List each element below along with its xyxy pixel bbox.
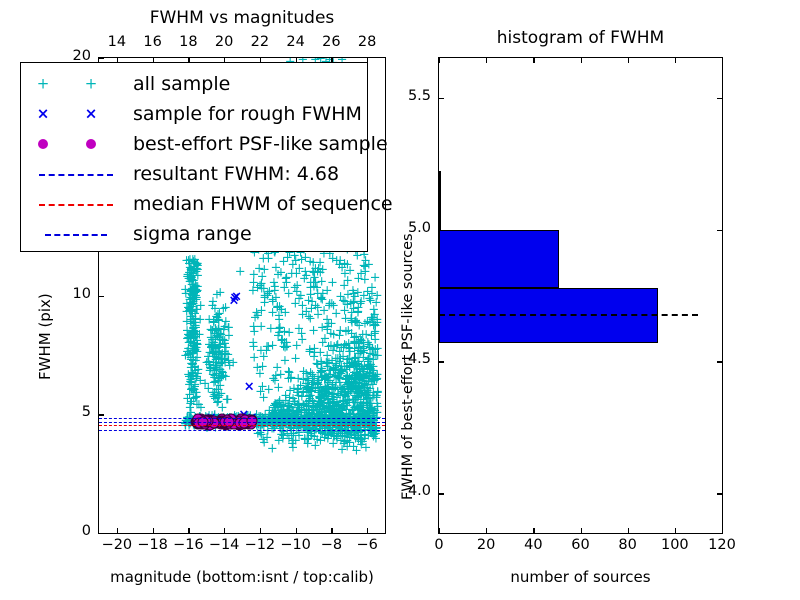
all-sample-point: + [329, 414, 340, 425]
all-sample-point: + [355, 298, 366, 309]
x-ticklabel-top: 24 [278, 34, 314, 50]
all-sample-point: + [213, 324, 224, 335]
all-sample-point: + [213, 309, 224, 320]
all-sample-point: + [280, 391, 291, 402]
all-sample-point: + [343, 339, 354, 350]
all-sample-point: + [287, 411, 298, 422]
all-sample-point: + [334, 400, 345, 411]
all-sample-point: + [349, 332, 360, 343]
all-sample-point: + [283, 367, 294, 378]
all-sample-point: + [215, 288, 226, 299]
all-sample-point: + [302, 427, 313, 438]
all-sample-point: + [340, 414, 351, 425]
all-sample-point: + [349, 431, 360, 442]
all-sample-point: + [324, 365, 335, 376]
all-sample-point: + [353, 371, 364, 382]
all-sample-point: + [311, 404, 322, 415]
all-sample-point: + [303, 414, 314, 425]
all-sample-point: + [358, 348, 369, 359]
all-sample-point: + [342, 381, 353, 392]
all-sample-point: + [334, 346, 345, 357]
all-sample-point: + [309, 347, 320, 358]
all-sample-point: + [272, 301, 283, 312]
all-sample-point: + [318, 390, 329, 401]
all-sample-point: + [321, 410, 332, 421]
all-sample-point: + [368, 371, 379, 382]
all-sample-point: + [344, 360, 355, 371]
all-sample-point: + [342, 396, 353, 407]
all-sample-point: + [268, 414, 279, 425]
all-sample-point: + [319, 388, 330, 399]
all-sample-point: + [330, 411, 341, 422]
all-sample-point: + [190, 280, 201, 291]
all-sample-point: + [337, 426, 348, 437]
all-sample-point: + [351, 368, 362, 379]
all-sample-point: + [327, 402, 338, 413]
all-sample-point: + [277, 414, 288, 425]
all-sample-point: + [267, 295, 278, 306]
all-sample-point: + [303, 414, 314, 425]
all-sample-point: + [328, 405, 339, 416]
all-sample-point: + [349, 427, 360, 438]
all-sample-point: + [305, 283, 316, 294]
all-sample-point: + [318, 414, 329, 425]
all-sample-point: + [289, 410, 300, 421]
all-sample-point: + [355, 433, 366, 444]
all-sample-point: + [213, 397, 224, 408]
all-sample-point: + [299, 422, 310, 433]
all-sample-point: + [215, 339, 226, 350]
all-sample-point: + [347, 394, 358, 405]
all-sample-point: + [337, 401, 348, 412]
all-sample-point: + [339, 390, 350, 401]
all-sample-point: + [187, 348, 198, 359]
all-sample-point: + [335, 365, 346, 376]
sigma-lower-line [99, 430, 385, 431]
all-sample-point: + [281, 338, 292, 349]
all-sample-point: + [309, 273, 320, 284]
all-sample-point: + [364, 398, 375, 409]
all-sample-point: + [181, 299, 192, 310]
all-sample-point: + [362, 392, 373, 403]
all-sample-point: + [326, 405, 337, 416]
all-sample-point: + [334, 403, 345, 414]
all-sample-point: + [262, 290, 273, 301]
all-sample-point: + [207, 341, 218, 352]
histogram-x-tick-top [533, 58, 534, 63]
all-sample-point: + [187, 328, 198, 339]
all-sample-point: + [364, 318, 375, 329]
all-sample-point: + [258, 434, 269, 445]
all-sample-point: + [248, 321, 259, 332]
all-sample-point: + [299, 414, 310, 425]
all-sample-point: + [357, 415, 368, 426]
all-sample-point: + [188, 337, 199, 348]
all-sample-point: + [349, 361, 360, 372]
x-ticklabel-bottom: −14 [206, 537, 242, 553]
all-sample-point: + [192, 330, 203, 341]
all-sample-point: + [316, 395, 327, 406]
all-sample-point: + [204, 348, 215, 359]
all-sample-point: + [325, 328, 336, 339]
all-sample-point: + [318, 414, 329, 425]
all-sample-point: + [357, 418, 368, 429]
all-sample-point: + [209, 329, 220, 340]
all-sample-point: + [369, 391, 380, 402]
all-sample-point: + [300, 267, 311, 278]
all-sample-point: + [346, 315, 357, 326]
all-sample-point: + [188, 339, 199, 350]
all-sample-point: + [351, 418, 362, 429]
all-sample-point: + [370, 427, 381, 438]
all-sample-point: + [312, 359, 323, 370]
all-sample-point: + [185, 305, 196, 316]
all-sample-point: + [191, 292, 202, 303]
all-sample-point: + [320, 384, 331, 395]
x-ticklabel-bottom: −10 [278, 537, 314, 553]
all-sample-point: + [358, 403, 369, 414]
all-sample-point: + [268, 418, 279, 429]
all-sample-point: + [303, 375, 314, 386]
all-sample-point: + [183, 349, 194, 360]
all-sample-point: + [273, 411, 284, 422]
all-sample-point: + [322, 372, 333, 383]
all-sample-point: + [218, 325, 229, 336]
all-sample-point: + [334, 407, 345, 418]
all-sample-point: + [213, 350, 224, 361]
all-sample-point: + [316, 292, 327, 303]
all-sample-point: + [256, 278, 267, 289]
all-sample-point: + [342, 426, 353, 437]
all-sample-point: + [219, 322, 230, 333]
all-sample-point: + [181, 317, 192, 328]
all-sample-point: + [223, 330, 234, 341]
all-sample-point: + [312, 401, 323, 412]
all-sample-point: + [270, 293, 281, 304]
histogram-x-tick-top [486, 58, 487, 63]
all-sample-point: + [209, 389, 220, 400]
all-sample-point: + [353, 383, 364, 394]
histogram-y-tick-right [717, 98, 722, 99]
all-sample-point: + [293, 398, 304, 409]
all-sample-point: + [251, 307, 262, 318]
all-sample-point: + [323, 358, 334, 369]
all-sample-point: + [330, 404, 341, 415]
all-sample-point: + [286, 372, 297, 383]
all-sample-point: + [274, 396, 285, 407]
all-sample-point: + [339, 305, 350, 316]
all-sample-point: + [336, 364, 347, 375]
all-sample-point: + [192, 339, 203, 350]
all-sample-point: + [365, 364, 376, 375]
all-sample-point: + [357, 411, 368, 422]
all-sample-point: + [315, 258, 326, 269]
all-sample-point: + [359, 411, 370, 422]
all-sample-point: + [213, 314, 224, 325]
all-sample-point: + [212, 331, 223, 342]
all-sample-point: + [365, 404, 376, 415]
all-sample-point: + [219, 354, 230, 365]
all-sample-point: + [336, 386, 347, 397]
all-sample-point: + [269, 410, 280, 421]
all-sample-point: + [307, 372, 318, 383]
all-sample-point: + [361, 382, 372, 393]
all-sample-point: + [186, 336, 197, 347]
all-sample-point: + [316, 398, 327, 409]
all-sample-point: + [283, 373, 294, 384]
all-sample-point: + [276, 414, 287, 425]
all-sample-point: + [346, 382, 357, 393]
all-sample-point: + [187, 306, 198, 317]
all-sample-point: + [337, 263, 348, 274]
all-sample-point: + [296, 254, 307, 265]
all-sample-point: + [323, 319, 334, 330]
all-sample-point: + [339, 426, 350, 437]
all-sample-point: + [342, 400, 353, 411]
all-sample-point: + [192, 352, 203, 363]
all-sample-point: + [181, 255, 192, 266]
histogram-bar [439, 171, 441, 229]
all-sample-point: + [327, 390, 338, 401]
legend-entry-all-sample: + + all sample [21, 67, 367, 101]
all-sample-point: + [204, 340, 215, 351]
all-sample-point: + [265, 324, 276, 335]
all-sample-point: + [309, 432, 320, 443]
legend-entry-rough-fwhm: × × sample for rough FWHM [21, 97, 367, 131]
all-sample-point: + [350, 415, 361, 426]
all-sample-point: + [191, 286, 202, 297]
all-sample-point: + [336, 402, 347, 413]
all-sample-point: + [349, 337, 360, 348]
all-sample-point: + [350, 434, 361, 445]
legend-label: median FHWM of sequence [133, 193, 393, 215]
all-sample-point: + [188, 298, 199, 309]
legend-label: resultant FWHM: 4.68 [133, 163, 339, 185]
all-sample-point: + [218, 304, 229, 315]
all-sample-point: + [281, 407, 292, 418]
x-tick-bottom [224, 528, 225, 533]
all-sample-point: + [185, 348, 196, 359]
rough-sample-point: × [231, 291, 242, 302]
all-sample-point: + [213, 353, 224, 364]
all-sample-point: + [216, 358, 227, 369]
all-sample-point: + [302, 435, 313, 446]
all-sample-point: + [342, 289, 353, 300]
all-sample-point: + [354, 418, 365, 429]
all-sample-point: + [364, 360, 375, 371]
all-sample-point: + [365, 349, 376, 360]
y-ticklabel: 10 [55, 286, 91, 302]
all-sample-point: + [336, 403, 347, 414]
all-sample-point: + [303, 296, 314, 307]
rough-sample-point: × [229, 296, 240, 307]
all-sample-point: + [274, 323, 285, 334]
all-sample-point: + [296, 404, 307, 415]
all-sample-point: + [302, 418, 313, 429]
all-sample-point: + [306, 405, 317, 416]
all-sample-point: + [190, 361, 201, 372]
all-sample-point: + [214, 332, 225, 343]
all-sample-point: + [192, 286, 203, 297]
all-sample-point: + [368, 313, 379, 324]
all-sample-point: + [316, 364, 327, 375]
all-sample-point: + [219, 353, 230, 364]
all-sample-point: + [205, 324, 216, 335]
all-sample-point: + [189, 327, 200, 338]
all-sample-point: + [182, 326, 193, 337]
all-sample-point: + [339, 390, 350, 401]
all-sample-point: + [342, 370, 353, 381]
all-sample-point: + [296, 414, 307, 425]
all-sample-point: + [305, 368, 316, 379]
all-sample-point: + [185, 262, 196, 273]
all-sample-point: + [341, 380, 352, 391]
all-sample-point: + [206, 341, 217, 352]
all-sample-point: + [364, 390, 375, 401]
all-sample-point: + [190, 379, 201, 390]
all-sample-point: + [363, 260, 374, 271]
all-sample-point: + [369, 374, 380, 385]
all-sample-point: + [315, 414, 326, 425]
all-sample-point: + [334, 378, 345, 389]
all-sample-point: + [323, 418, 334, 429]
cross-icon: × [37, 107, 50, 122]
all-sample-point: + [369, 371, 380, 382]
all-sample-point: + [305, 390, 316, 401]
all-sample-point: + [217, 348, 228, 359]
all-sample-point: + [350, 383, 361, 394]
all-sample-point: + [367, 404, 378, 415]
all-sample-point: + [188, 394, 199, 405]
all-sample-point: + [283, 414, 294, 425]
all-sample-point: + [184, 330, 195, 341]
all-sample-point: + [359, 341, 370, 352]
all-sample-point: + [190, 323, 201, 334]
dashdot-line-icon [45, 234, 107, 236]
x-ticklabel-bottom: −12 [242, 537, 278, 553]
all-sample-point: + [343, 388, 354, 399]
all-sample-point: + [370, 273, 381, 284]
all-sample-point: + [332, 434, 343, 445]
all-sample-point: + [351, 378, 362, 389]
all-sample-point: + [334, 373, 345, 384]
all-sample-point: + [207, 340, 218, 351]
histogram-y-tick [439, 361, 444, 362]
all-sample-point: + [189, 381, 200, 392]
all-sample-point: + [186, 372, 197, 383]
all-sample-point: + [210, 361, 221, 372]
all-sample-point: + [314, 392, 325, 403]
all-sample-point: + [313, 263, 324, 274]
all-sample-point: + [371, 407, 382, 418]
all-sample-point: + [367, 393, 378, 404]
all-sample-point: + [188, 288, 199, 299]
all-sample-point: + [216, 370, 227, 381]
all-sample-point: + [192, 281, 203, 292]
all-sample-point: + [280, 307, 291, 318]
all-sample-point: + [317, 295, 328, 306]
all-sample-point: + [272, 363, 283, 374]
all-sample-point: + [372, 388, 383, 399]
all-sample-point: + [212, 397, 223, 408]
all-sample-point: + [185, 337, 196, 348]
all-sample-point: + [285, 410, 296, 421]
histogram-x-ticklabel: 20 [466, 537, 506, 553]
all-sample-point: + [330, 363, 341, 374]
all-sample-point: + [318, 386, 329, 397]
all-sample-point: + [353, 302, 364, 313]
all-sample-point: + [369, 405, 380, 416]
all-sample-point: + [322, 285, 333, 296]
all-sample-point: + [275, 370, 286, 381]
all-sample-point: + [208, 317, 219, 328]
all-sample-point: + [328, 384, 339, 395]
all-sample-point: + [186, 328, 197, 339]
all-sample-point: + [342, 300, 353, 311]
all-sample-point: + [352, 388, 363, 399]
histogram-x-tick-top [722, 58, 723, 63]
all-sample-point: + [353, 378, 364, 389]
all-sample-point: + [358, 366, 369, 377]
all-sample-point: + [274, 398, 285, 409]
all-sample-point: + [365, 365, 376, 376]
all-sample-point: + [363, 388, 374, 399]
all-sample-point: + [183, 255, 194, 266]
all-sample-point: + [262, 418, 273, 429]
all-sample-point: + [343, 379, 354, 390]
all-sample-point: + [192, 304, 203, 315]
all-sample-point: + [317, 401, 328, 412]
all-sample-point: + [263, 342, 274, 353]
all-sample-point: + [191, 285, 202, 296]
all-sample-point: + [366, 312, 377, 323]
all-sample-point: + [284, 410, 295, 421]
all-sample-point: + [208, 316, 219, 327]
all-sample-point: + [322, 314, 333, 325]
all-sample-point: + [301, 368, 312, 379]
all-sample-point: + [365, 359, 376, 370]
all-sample-point: + [302, 410, 313, 421]
all-sample-point: + [369, 426, 380, 437]
legend-entry-sigma-range: sigma range [21, 217, 367, 251]
all-sample-point: + [340, 373, 351, 384]
all-sample-point: + [353, 432, 364, 443]
all-sample-point: + [308, 268, 319, 279]
sigma-upper-line [99, 418, 385, 419]
all-sample-point: + [358, 343, 369, 354]
all-sample-point: + [359, 385, 370, 396]
all-sample-point: + [189, 293, 200, 304]
all-sample-point: + [367, 314, 378, 325]
all-sample-point: + [190, 345, 201, 356]
all-sample-point: + [209, 388, 220, 399]
all-sample-point: + [256, 283, 267, 294]
all-sample-point: + [345, 382, 356, 393]
all-sample-point: + [322, 381, 333, 392]
all-sample-point: + [332, 414, 343, 425]
all-sample-point: + [195, 301, 206, 312]
all-sample-point: + [269, 400, 280, 411]
all-sample-point: + [276, 414, 287, 425]
all-sample-point: + [354, 365, 365, 376]
all-sample-point: + [356, 391, 367, 402]
all-sample-point: + [336, 366, 347, 377]
all-sample-point: + [354, 422, 365, 433]
all-sample-point: + [349, 403, 360, 414]
legend-marker-median-fwhm [21, 187, 133, 221]
all-sample-point: + [323, 399, 334, 410]
all-sample-point: + [189, 343, 200, 354]
